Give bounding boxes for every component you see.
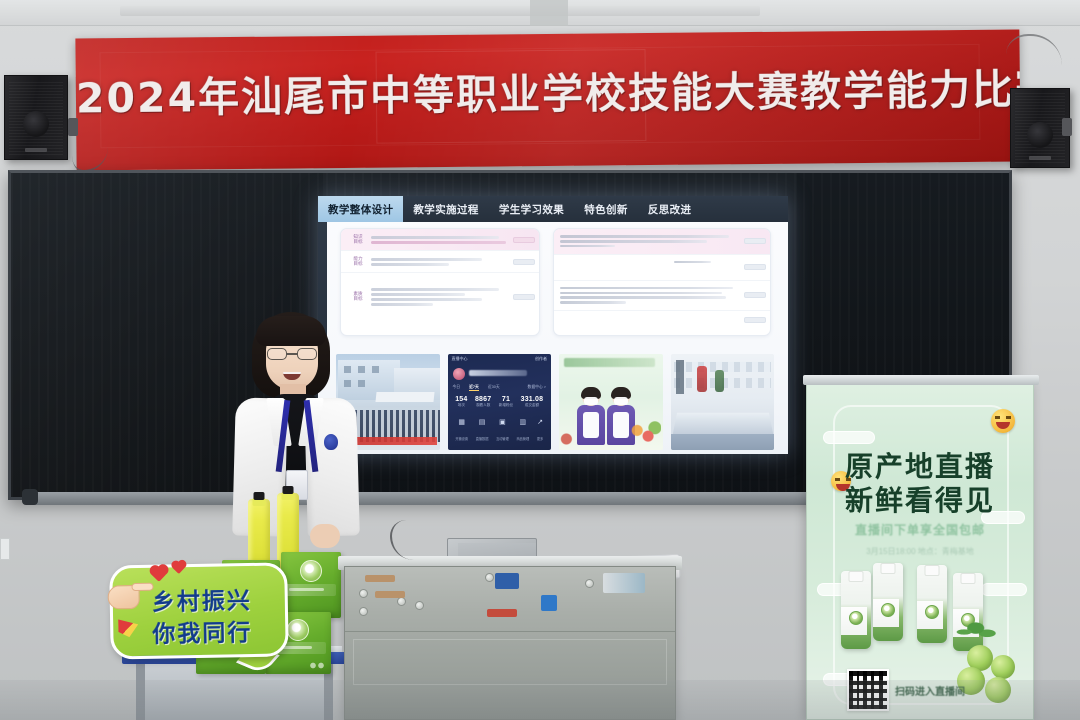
lens-right	[297, 348, 317, 360]
text-line	[371, 303, 433, 306]
box-handle-holes	[309, 662, 325, 669]
speaker-cable-right	[1006, 34, 1062, 86]
slide-tab-bar[interactable]: 教学整体设计 教学实施过程 学生学习效果 特色创新 反思改进	[318, 196, 788, 222]
brand-seal-icon	[300, 560, 322, 582]
brand-seal-icon	[849, 611, 863, 625]
table-row: 能力目标	[341, 251, 539, 273]
text-line	[560, 292, 722, 295]
cabinet-knob[interactable]	[415, 601, 424, 610]
face-mask-icon	[584, 397, 598, 405]
speaker-logo	[1029, 156, 1051, 160]
cabinet-knob[interactable]	[485, 573, 494, 582]
text-line	[560, 245, 615, 248]
shortcut-item: ▤ 直播数据	[476, 419, 489, 445]
objectives-table-left: 知识目标 能力目标 素质目标	[340, 228, 540, 336]
text-line	[371, 288, 499, 291]
dashboard-shortcuts: ▦ 开播设置 ▤ 直播数据 ▣ 互动管理 ▥ 商	[452, 429, 548, 445]
row-tag	[513, 294, 535, 300]
dashboard-title: 直播中心	[452, 356, 468, 362]
cabinet-knob[interactable]	[359, 589, 368, 598]
wall-speaker-right	[1010, 88, 1070, 168]
speaker-cone-icon	[1027, 122, 1053, 148]
person-shape	[715, 370, 724, 392]
row-label: 素质目标	[345, 292, 371, 302]
sign-line-1: 乡村振兴	[151, 581, 280, 617]
pointing-hand-icon	[105, 577, 152, 614]
avatar	[453, 368, 465, 380]
text-line	[560, 235, 729, 238]
shortcut-item: ▦ 开播设置	[455, 419, 468, 445]
speaker-bracket-right	[1062, 118, 1072, 136]
cabinet-seam	[345, 631, 675, 632]
cabinet-sticker-red	[487, 609, 517, 617]
shortcut-item: ▥ 商品管理	[516, 419, 529, 445]
table-row	[554, 311, 770, 329]
stat-caption: 场次	[455, 403, 467, 408]
table-row	[554, 229, 770, 255]
shortcut-label: 开播设置	[455, 437, 468, 441]
stat-item: 331.08 成交金额	[521, 396, 544, 416]
blackboard-tray-cap-left	[22, 489, 38, 505]
chart-icon: ▤	[476, 419, 489, 427]
table-row: 素质目标	[341, 273, 539, 321]
shortcut-label: 商品管理	[516, 437, 529, 441]
green-plum-icon	[991, 655, 1015, 679]
canopy-shape	[375, 392, 434, 402]
dashboard-stats: 154 场次 8867 观看人数 71 新增粉丝 331.08	[452, 396, 548, 416]
data-center-link: 数据中心 >	[528, 385, 546, 390]
bottle-cap	[283, 486, 294, 494]
stat-value: 331.08	[521, 396, 544, 403]
cabinet-sticker	[375, 591, 405, 598]
shortcut-label: 更多	[537, 437, 543, 441]
cabinet-sticker-blue	[541, 595, 557, 611]
cabinet-sticker-blue	[495, 573, 519, 589]
range-tab-7days: 近7天	[469, 385, 479, 391]
stat-item: 154 场次	[455, 396, 467, 416]
dashboard-range-tabs: 今日 近7天 近30天 数据中心 >	[453, 384, 547, 391]
face-mask-icon	[614, 397, 628, 405]
brand-seal-icon	[925, 605, 939, 619]
shortcut-item: ↗ 更多	[537, 419, 543, 445]
produce-shape	[560, 431, 576, 447]
detail-table-right	[553, 228, 771, 336]
dashboard-role: 创作者	[535, 356, 547, 362]
cable	[390, 520, 430, 560]
livestream-poster-standee: 原产地直播 新鲜看得见 直播间下单享全国包邮 3月15日18:00 地点：青梅基…	[806, 382, 1034, 720]
photo-banner-text	[564, 358, 655, 367]
event-banner: 2024年汕尾市中等职业学校技能大赛教学能力比赛	[75, 29, 1020, 170]
text-line	[371, 258, 482, 261]
sign-line-2: 你我同行	[152, 612, 281, 648]
grid-icon: ▦	[455, 419, 468, 427]
ceiling-rail	[120, 6, 760, 16]
cabinet-knob[interactable]	[359, 607, 368, 616]
text-line	[371, 293, 465, 296]
floor-shape	[671, 434, 775, 450]
text-line	[674, 261, 711, 264]
poster-product-bottle	[917, 565, 947, 643]
brand-seal-icon	[881, 603, 895, 617]
slide-body: 知识目标 能力目标 素质目标	[318, 222, 788, 454]
table-row	[554, 281, 770, 311]
presentation-slide[interactable]: 教学整体设计 教学实施过程 学生学习效果 特色创新 反思改进 知识目标 能	[318, 196, 788, 454]
produce-shape	[627, 420, 661, 446]
row-tag	[513, 259, 535, 265]
apron-shape	[583, 412, 599, 438]
photo-students-uniform	[559, 354, 663, 450]
tab-overall-design[interactable]: 教学整体设计	[318, 196, 403, 222]
stat-item: 71 新增粉丝	[499, 396, 513, 416]
wall-socket	[0, 538, 10, 560]
cabinet-knob[interactable]	[397, 597, 406, 606]
poster-product-bottle	[841, 571, 871, 649]
decor-chip	[823, 431, 875, 444]
lens-left	[267, 348, 287, 360]
glasses-bridge	[287, 353, 297, 355]
tab-innovation[interactable]: 特色创新	[574, 196, 638, 222]
cabinet-sticker	[365, 575, 395, 582]
person-shape	[697, 366, 707, 392]
box-label	[286, 584, 336, 596]
laughing-emoji-icon	[991, 409, 1015, 433]
row-label: 能力目标	[345, 257, 371, 267]
text-line	[560, 296, 726, 299]
floor	[0, 680, 1080, 720]
stat-value: 8867	[475, 396, 491, 403]
bottle-cap	[961, 573, 976, 584]
student-figure	[577, 388, 605, 444]
poster-product-bottle	[873, 563, 903, 641]
table-row: 知识目标	[341, 229, 539, 251]
range-tab-today: 今日	[453, 385, 461, 390]
username-placeholder	[469, 370, 527, 376]
tab-implementation[interactable]: 教学实施过程	[403, 196, 488, 222]
text-line	[371, 236, 499, 239]
leaf-graphic	[955, 619, 1001, 645]
text-line	[371, 263, 449, 266]
bottle-cap	[849, 571, 864, 582]
banner-title: 2024年汕尾市中等职业学校技能大赛教学能力比赛	[76, 55, 1021, 124]
row-tag	[513, 237, 535, 243]
decor-chip	[981, 583, 1027, 596]
cabinet-plate	[603, 573, 645, 593]
dashboard-header: 直播中心 创作者	[448, 354, 552, 364]
row-tag	[744, 264, 766, 270]
text-line	[560, 301, 626, 304]
row-tag	[744, 238, 766, 244]
range-tab-30days: 近30天	[488, 385, 500, 390]
hair-fringe-shape	[256, 316, 326, 346]
classroom-scene: 2024年汕尾市中等职业学校技能大赛教学能力比赛 教学整体设计 教学实施过程 学…	[0, 0, 1080, 720]
arrow-icon: ↗	[537, 419, 543, 427]
stat-value: 71	[499, 396, 513, 403]
window-shape	[372, 366, 379, 373]
shortcut-label: 互动管理	[496, 437, 509, 441]
cabinet-knob[interactable]	[585, 579, 594, 588]
row-tag	[744, 317, 766, 323]
rural-revitalization-sign: 乡村振兴 你我同行	[95, 554, 293, 673]
stat-caption: 新增粉丝	[499, 403, 513, 408]
ceiling-fixture	[530, 0, 568, 26]
stat-caption: 观看人数	[475, 403, 491, 408]
text-line	[371, 298, 482, 301]
standee-top-rail	[803, 375, 1039, 385]
bag-icon: ▥	[516, 419, 529, 427]
text-line	[560, 287, 733, 290]
poster-dateline: 3月15日18:00 地点：青梅基地	[807, 546, 1033, 557]
hand-shape	[310, 524, 340, 548]
slide-photo-strip: 直播中心 创作者 今日 近7天 近30天 数据中心 > 154 场	[336, 354, 774, 450]
cabinet-drawer[interactable]	[353, 639, 667, 685]
row-label: 知识目标	[345, 235, 371, 245]
poster-title-line-2: 新鲜看得见	[807, 479, 1033, 519]
text-line	[560, 240, 707, 243]
bottle-cap	[254, 492, 265, 500]
bottle-cap	[925, 565, 940, 576]
table-row	[554, 255, 770, 281]
lapel-pin-icon	[324, 434, 338, 450]
glasses-icon	[267, 348, 317, 360]
tab-reflection[interactable]: 反思改进	[638, 196, 702, 222]
hand-finger	[131, 583, 153, 591]
stat-value: 154	[455, 396, 467, 403]
poster-subtitle: 直播间下单享全国包邮	[807, 521, 1033, 538]
chat-icon: ▣	[496, 419, 509, 427]
counter-shape	[672, 413, 772, 434]
speaker-cone-icon	[23, 111, 49, 137]
bottle-cap	[881, 563, 896, 574]
photo-market-interior	[671, 354, 775, 450]
wall-speaker-left	[4, 75, 68, 160]
photo-livestream-dashboard: 直播中心 创作者 今日 近7天 近30天 数据中心 > 154 场	[448, 354, 552, 450]
shortcut-label: 直播数据	[476, 437, 489, 441]
tab-learning-outcome[interactable]: 学生学习效果	[489, 196, 574, 222]
shortcut-item: ▣ 互动管理	[496, 419, 509, 445]
stat-item: 8867 观看人数	[475, 396, 491, 416]
row-tag	[744, 292, 766, 298]
pillar-shape	[676, 360, 684, 394]
stat-caption: 成交金额	[521, 403, 544, 408]
speaker-logo	[25, 148, 47, 152]
text-line	[371, 241, 506, 244]
